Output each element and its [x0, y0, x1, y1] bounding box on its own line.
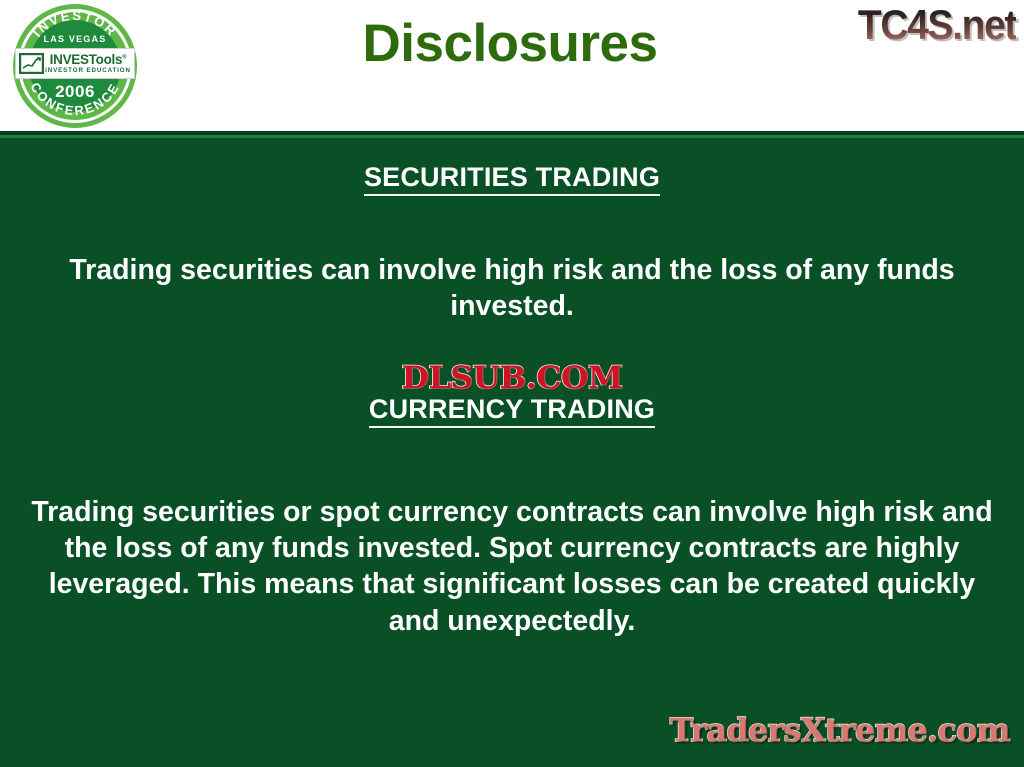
badge-city-label: LAS VEGAS	[13, 34, 137, 44]
heading-currency-trading: CURRENCY TRADING	[0, 394, 1024, 425]
registered-trademark-icon: ®	[122, 54, 126, 60]
page-title: Disclosures	[160, 16, 860, 72]
badge-brand-plate: INVESTools® INVESTOR EDUCATION	[15, 48, 135, 79]
paragraph-currency-trading: Trading securities or spot currency cont…	[26, 494, 998, 639]
tc4s-logo: TC4S.net	[858, 1, 1016, 49]
chart-icon	[19, 53, 44, 74]
heading-currency-trading-label: CURRENCY TRADING	[369, 394, 655, 428]
investools-conference-logo: INVESTOR CONFERENCE LAS VEGAS INVESTools…	[13, 4, 137, 128]
badge-tagline: INVESTOR EDUCATION	[44, 68, 132, 74]
heading-securities-trading-label: SECURITIES TRADING	[364, 162, 660, 196]
badge-year-label: 2006	[13, 82, 137, 102]
slide-canvas: INVESTOR CONFERENCE LAS VEGAS INVESTools…	[0, 0, 1024, 767]
badge-brand-text: INVESTools® INVESTOR EDUCATION	[44, 53, 134, 75]
badge-brand-name: INVESTools®	[44, 53, 132, 67]
tradersxtreme-logo: TradersXtreme.com	[669, 711, 1009, 749]
dlsub-watermark: DLSUB.COM	[0, 360, 1024, 396]
paragraph-securities-trading: Trading securities can involve high risk…	[40, 252, 984, 324]
slide-body: SECURITIES TRADING Trading securities ca…	[0, 138, 1024, 767]
heading-securities-trading: SECURITIES TRADING	[0, 162, 1024, 193]
